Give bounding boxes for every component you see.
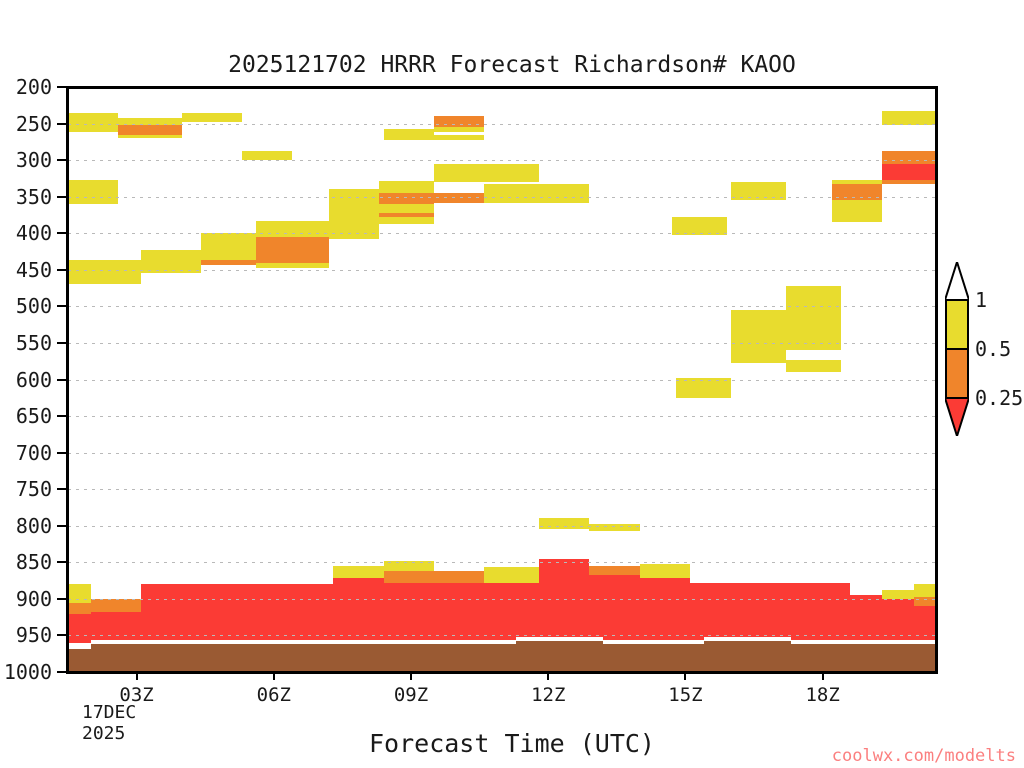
heatmap-cell [589,524,639,531]
heatmap-cell [676,378,731,398]
heatmap-cell [141,584,333,643]
heatmap-cell [384,583,485,643]
heatmap-cell [484,184,589,202]
y-axis-tick-label: 700 [16,441,52,465]
x-axis-tick-mark [136,672,138,680]
y-axis-tick-label: 1000 [4,660,52,684]
colorbar-bottom-arrow [945,398,969,436]
heatmap-cell [786,286,841,310]
heatmap-cell [690,583,850,643]
colorbar-tick-label: 0.25 [975,386,1023,410]
heatmap-cell [68,614,91,643]
y-axis-tick-mark [57,634,66,636]
x-axis-tick-mark [273,672,275,680]
heatmap-cell [539,584,589,643]
heatmap-cell [484,583,539,643]
x-axis-tick-label: 06Z [257,684,291,706]
x-axis-labels: 03Z06Z09Z12Z15Z18Z [68,678,937,708]
heatmap-cell [589,566,639,576]
colorbar-tick-line [945,299,969,301]
y-axis-tick-mark [57,598,66,600]
heatmap-cell [379,193,434,204]
heatmap-cell [329,200,379,239]
y-axis-tick-mark [57,415,66,417]
y-axis-labels: 2002503003504004505005506006507007508008… [0,87,66,672]
heatmap-cell [201,260,256,264]
date-stamp-day: 17DEC [82,702,136,723]
heatmap-cell [68,584,91,602]
plot-border-right [935,86,938,674]
heatmap-cell [141,250,200,273]
heatmap-cell [379,184,434,193]
heatmap-cell [731,350,786,363]
y-axis-tick-mark [57,196,66,198]
heatmap-cell [201,233,256,260]
x-axis-tick-label: 15Z [668,684,702,706]
colorbar-band-orange [945,349,969,398]
heatmap-cell [118,135,182,139]
y-axis-tick-mark [57,379,66,381]
plot-border-left [66,86,69,674]
heatmap-cell [731,182,786,200]
y-axis-tick-mark [57,525,66,527]
colorbar-top-arrow [945,262,969,300]
heatmap-cell [850,595,882,643]
y-axis-tick-label: 500 [16,294,52,318]
heatmap-cell [384,561,434,571]
y-axis-tick-label: 300 [16,148,52,172]
heatmap-cell [118,118,182,125]
y-axis-tick-label: 950 [16,623,52,647]
heatmap-cell [384,135,485,139]
heatmap-cell [329,189,379,202]
richardson-number-colorbar: 10.50.25 [945,300,969,446]
y-axis-tick-label: 250 [16,112,52,136]
terrain-block [704,641,791,672]
y-axis-tick-mark [57,488,66,490]
plot-border-bottom [66,671,938,674]
y-axis-tick-mark [57,342,66,344]
y-axis-tick-mark [57,305,66,307]
colorbar-tick-line [945,348,969,350]
heatmap-cell [182,113,241,122]
heatmap-cell [333,578,383,642]
heatmap-cell [434,164,539,182]
y-axis-tick-label: 600 [16,368,52,392]
heatmap-cell [914,606,937,643]
heatmap-cell [434,116,484,127]
heatmap-cell [882,599,914,643]
heatmap-cell [484,567,539,582]
heatmap-cell [731,310,786,350]
heatmap-cell [914,597,937,606]
y-axis-tick-label: 400 [16,221,52,245]
heatmap-cell [384,571,485,583]
heatmap-cells-layer [68,87,937,672]
y-axis-tick-label: 350 [16,185,52,209]
heatmap-cell [256,237,329,263]
y-axis-tick-mark [57,269,66,271]
x-axis-tick-mark [684,672,686,680]
colorbar-tick-label: 0.5 [975,337,1011,361]
y-axis-tick-mark [57,561,66,563]
chart-root: 2025121702 HRRR Forecast Richardson# KAO… [0,0,1024,768]
heatmap-cell [333,566,383,578]
heatmap-cell [882,164,937,180]
x-axis-tick-mark [410,672,412,680]
y-axis-tick-label: 800 [16,514,52,538]
heatmap-cell [882,151,937,163]
site-watermark: coolwx.com/modelts [832,746,1016,766]
heatmap-cell [242,151,292,160]
x-axis-tick-label: 09Z [394,684,428,706]
terrain-block [603,644,704,672]
y-axis-tick-mark [57,86,66,88]
terrain-block [91,644,516,672]
heatmap-cell [640,578,690,642]
heatmap-cell [256,221,329,237]
heatmap-cell [882,590,914,599]
heatmap-cell [539,559,589,585]
terrain-block [791,644,937,672]
heatmap-cell [379,204,434,213]
heatmap-cell [786,310,841,350]
colorbar-tick-line [945,397,969,399]
heatmap-cell [68,603,91,614]
heatmap-cell [832,184,882,200]
heatmap-cell [118,125,182,135]
heatmap-cell [256,263,329,269]
heatmap-cell [539,518,589,529]
heatmap-cell [882,180,937,184]
heatmap-cell [672,217,727,235]
colorbar-band-yellow [945,300,969,349]
heatmap-cell [640,564,690,579]
heatmap-cell [91,599,141,612]
x-axis-tick-label: 12Z [531,684,565,706]
y-axis-tick-label: 550 [16,331,52,355]
heatmap-cell [914,584,937,597]
heatmap-cell [68,180,118,204]
x-axis-tick-mark [547,672,549,680]
terrain-block [68,649,91,672]
y-axis-tick-mark [57,232,66,234]
y-axis-tick-label: 650 [16,404,52,428]
y-axis-tick-label: 750 [16,477,52,501]
y-axis-tick-label: 450 [16,258,52,282]
heatmap-cell [786,360,841,372]
y-axis-tick-label: 850 [16,550,52,574]
heatmap-cell [379,217,434,224]
heatmap-cell [434,193,484,203]
y-axis-tick-label: 900 [16,587,52,611]
plot-border-top [66,86,938,89]
x-axis-tick-label: 18Z [805,684,839,706]
colorbar-tick-label: 1 [975,288,987,312]
heatmap-cell [434,127,484,132]
y-axis-tick-label: 200 [16,75,52,99]
terrain-block [516,641,603,672]
x-axis-tick-mark [822,672,824,680]
heatmap-cell [882,111,937,125]
y-axis-tick-mark [57,671,66,673]
heatmap-cell [832,200,882,222]
heatmap-cell [91,612,141,643]
y-axis-tick-mark [57,452,66,454]
chart-title: 2025121702 HRRR Forecast Richardson# KAO… [0,52,1024,78]
y-axis-tick-mark [57,123,66,125]
heatmap-cell [589,575,639,642]
plot-area [68,87,937,672]
heatmap-cell [68,113,118,133]
heatmap-cell [68,260,141,284]
y-axis-tick-mark [57,159,66,161]
